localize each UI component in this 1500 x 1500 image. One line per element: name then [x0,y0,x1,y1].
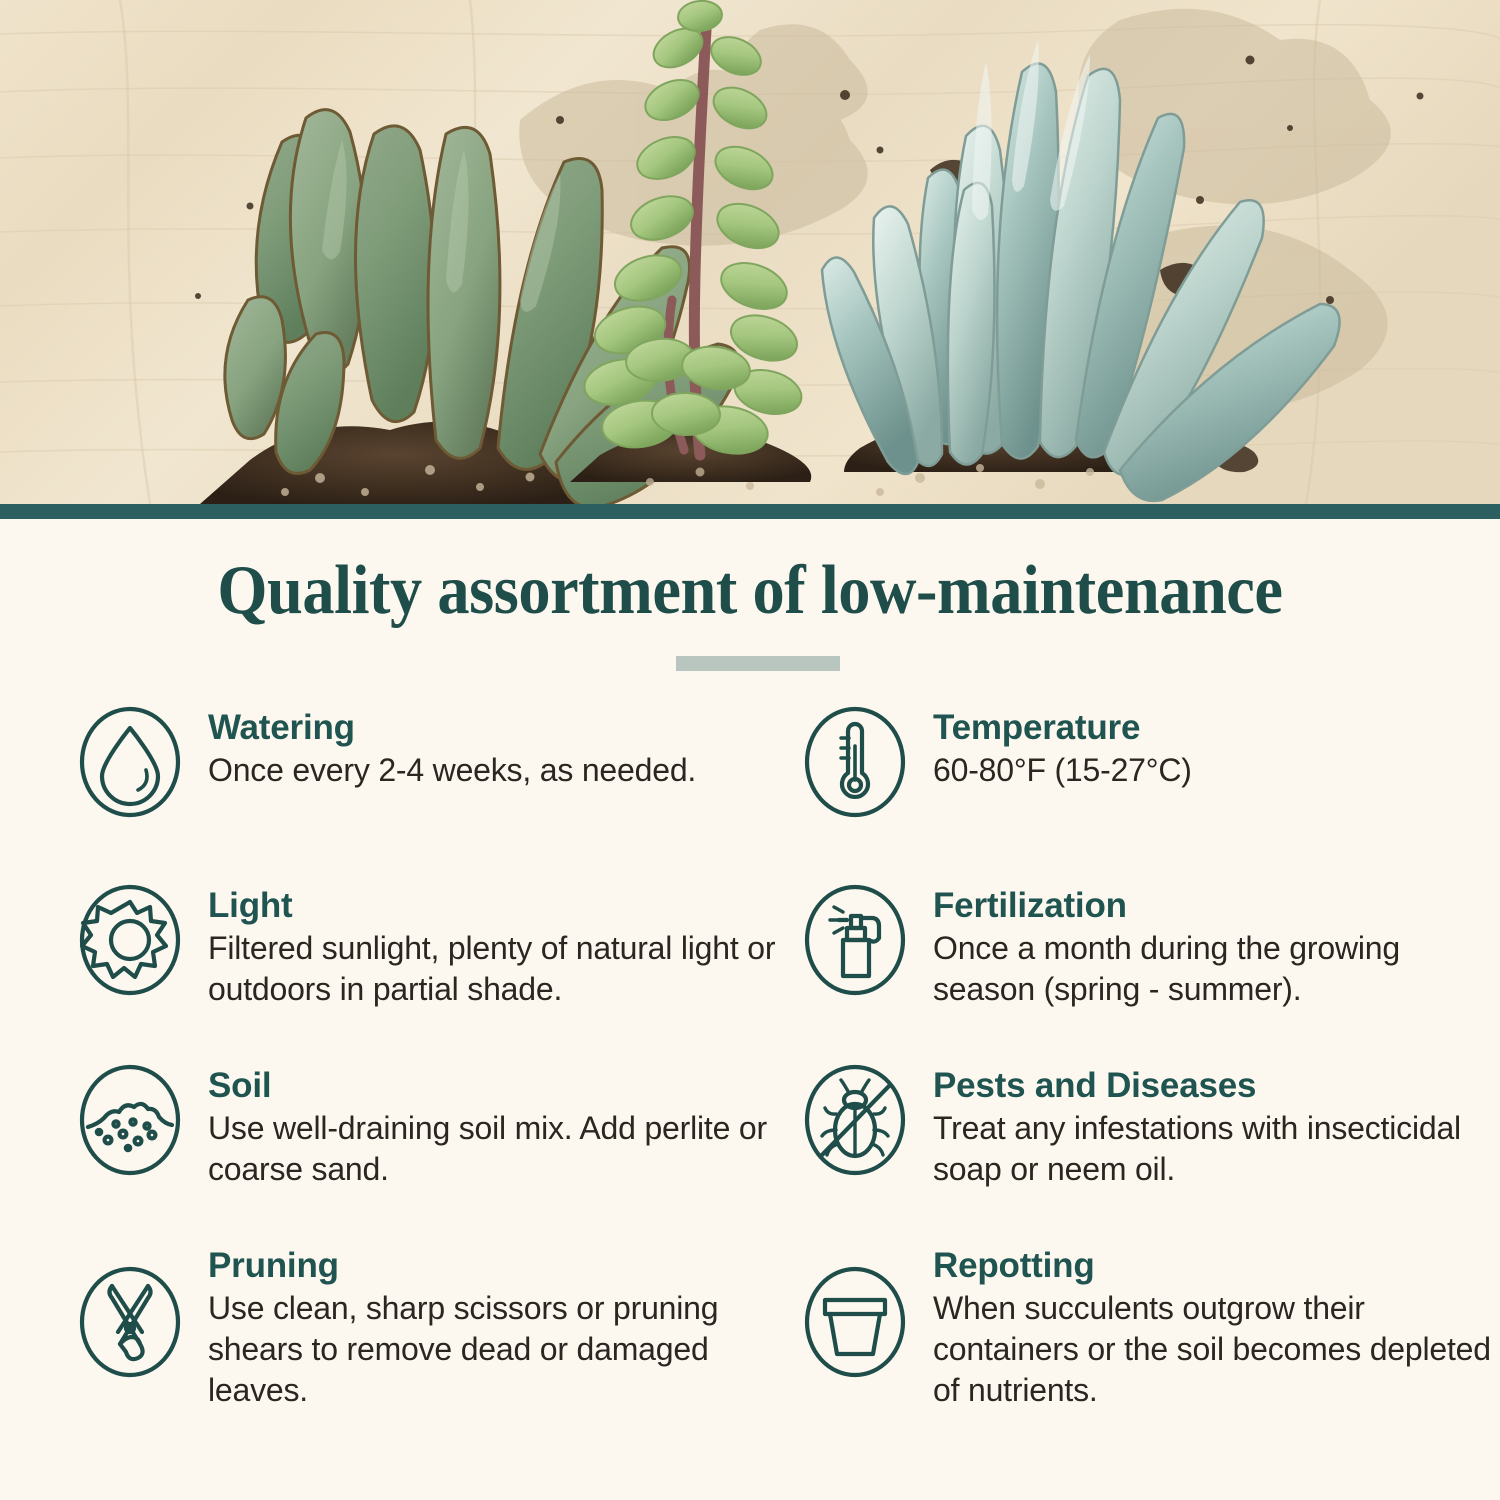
feature-description: 60-80°F (15-27°C) [933,750,1500,791]
feature-title: Fertilization [933,886,1500,926]
page-title: Quality assortment of low-maintenance [60,552,1440,630]
feature-title: Soil [208,1066,778,1106]
page-title-container: Quality assortment of low-maintenance [0,552,1500,630]
feature-title: Light [208,886,778,926]
no-bug-icon [803,1064,907,1176]
feature-title: Pests and Diseases [933,1066,1500,1106]
title-underline-accent [676,656,840,671]
feature-description: Once a month during the growing season (… [933,928,1500,1010]
hero-photo [0,0,1500,504]
feature-description: Use well-draining soil mix. Add perlite … [208,1108,778,1190]
pruning-shears-icon [78,1266,182,1378]
feature-item-pests[interactable]: Pests and Diseases Treat any infestation… [803,1064,1500,1190]
feature-item-fertilization[interactable]: Fertilization Once a month during the gr… [803,884,1500,1010]
feature-item-light[interactable]: Light Filtered sunlight, plenty of natur… [78,884,778,1010]
thermometer-icon [803,706,907,818]
spray-bottle-icon [803,884,907,996]
feature-description: Filtered sunlight, plenty of natural lig… [208,928,778,1010]
feature-title: Repotting [933,1246,1500,1286]
sun-icon [78,884,182,996]
succulents-photo-illustration [0,0,1500,504]
soil-mound-icon [78,1064,182,1176]
feature-description: Treat any infestations with insecticidal… [933,1108,1500,1190]
teal-divider-rule [0,504,1500,519]
feature-item-temperature[interactable]: Temperature 60-80°F (15-27°C) [803,706,1500,791]
water-drop-icon [78,706,182,818]
flower-pot-icon [803,1266,907,1378]
feature-description: When succulents outgrow their containers… [933,1288,1500,1411]
feature-item-pruning[interactable]: Pruning Use clean, sharp scissors or pru… [78,1244,778,1411]
feature-description: Use clean, sharp scissors or pruning she… [208,1288,778,1411]
feature-title: Pruning [208,1246,778,1286]
feature-title: Watering [208,708,778,748]
feature-title: Temperature [933,708,1500,748]
feature-description: Once every 2-4 weeks, as needed. [208,750,778,791]
feature-item-watering[interactable]: Watering Once every 2-4 weeks, as needed… [78,706,778,791]
feature-item-soil[interactable]: Soil Use well-draining soil mix. Add per… [78,1064,778,1190]
infographic-page: Quality assortment of low-maintenance Wa… [0,0,1500,1500]
feature-item-repotting[interactable]: Repotting When succulents outgrow their … [803,1244,1500,1411]
